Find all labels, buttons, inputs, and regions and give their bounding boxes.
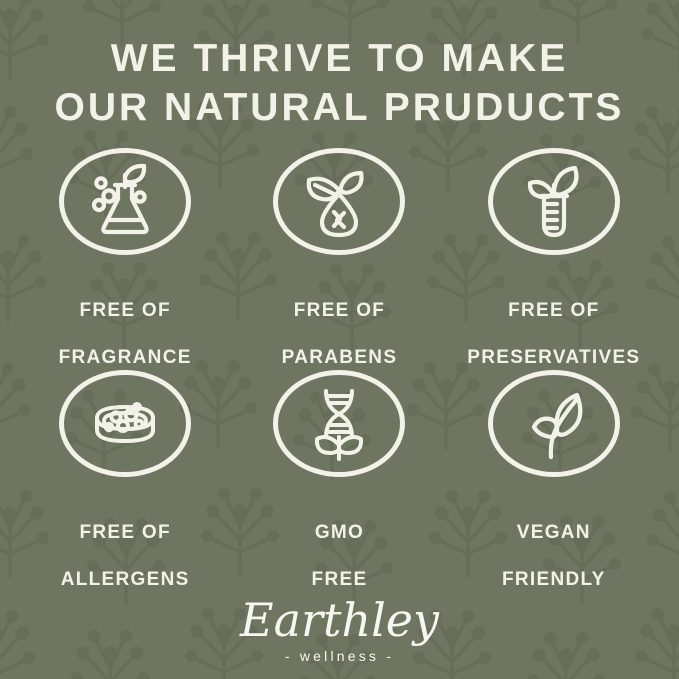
- badge-free-of-allergens: FREE OF ALLERGENS: [18, 370, 232, 592]
- title-line-2: OUR NATURAL PRUDUCTS: [0, 83, 679, 132]
- petri-dish-icon: [84, 383, 166, 465]
- page-title: WE THRIVE TO MAKE OUR NATURAL PRUDUCTS: [0, 34, 679, 132]
- badge-label: GMO FREE: [312, 497, 368, 592]
- poster-canvas: WE THRIVE TO MAKE OUR NATURAL PRUDUCTS: [0, 0, 679, 679]
- badge-vegan-friendly: VEGAN FRIENDLY: [447, 370, 661, 592]
- title-line-1: WE THRIVE TO MAKE: [0, 34, 679, 83]
- badge-label-line-2: ALLERGENS: [61, 569, 190, 590]
- badge-gmo-free: GMO FREE: [232, 370, 446, 592]
- badge-free-of-parabens: FREE OF PARABENS: [232, 148, 446, 370]
- badge-label-line-2: FREE: [312, 569, 368, 590]
- flask-with-leaf-icon: [84, 161, 166, 243]
- badge-circle: [488, 370, 620, 477]
- badge-free-of-fragrance: FREE OF FRAGRANCE: [18, 148, 232, 370]
- badge-label-line-1: GMO: [315, 522, 364, 543]
- badge-label-line-2: PARABENS: [282, 347, 398, 368]
- badge-label-line-1: FREE OF: [79, 522, 170, 543]
- brand-name: Earthley: [0, 597, 679, 643]
- badge-circle: [59, 148, 191, 255]
- badge-label-line-1: VEGAN: [517, 522, 591, 543]
- badge-circle: [59, 370, 191, 477]
- badge-label: VEGAN FRIENDLY: [502, 497, 606, 592]
- brand-logo: Earthley - wellness -: [0, 597, 679, 663]
- badge-label-line-2: FRAGRANCE: [59, 347, 192, 368]
- badge-grid: FREE OF FRAGRANCE: [18, 148, 661, 592]
- badge-label-line-1: FREE OF: [294, 300, 385, 321]
- droplet-with-leaves-icon: [298, 161, 380, 243]
- badge-label-line-2: FRIENDLY: [502, 569, 606, 590]
- badge-label: FREE OF PARABENS: [282, 275, 398, 370]
- badge-label: FREE OF ALLERGENS: [61, 497, 190, 592]
- badge-label: FREE OF PRESERVATIVES: [467, 275, 640, 370]
- badge-label: FREE OF FRAGRANCE: [59, 275, 192, 370]
- two-leaves-icon: [513, 383, 595, 465]
- badge-circle: [488, 148, 620, 255]
- badge-circle: [273, 370, 405, 477]
- badge-label-line-2: PRESERVATIVES: [467, 347, 640, 368]
- test-tube-with-leaves-icon: [513, 161, 595, 243]
- dna-with-leaves-icon: [298, 383, 380, 465]
- badge-label-line-1: FREE OF: [508, 300, 599, 321]
- badge-label-line-1: FREE OF: [79, 300, 170, 321]
- badge-free-of-preservatives: FREE OF PRESERVATIVES: [447, 148, 661, 370]
- badge-circle: [273, 148, 405, 255]
- brand-tagline: - wellness -: [0, 649, 679, 663]
